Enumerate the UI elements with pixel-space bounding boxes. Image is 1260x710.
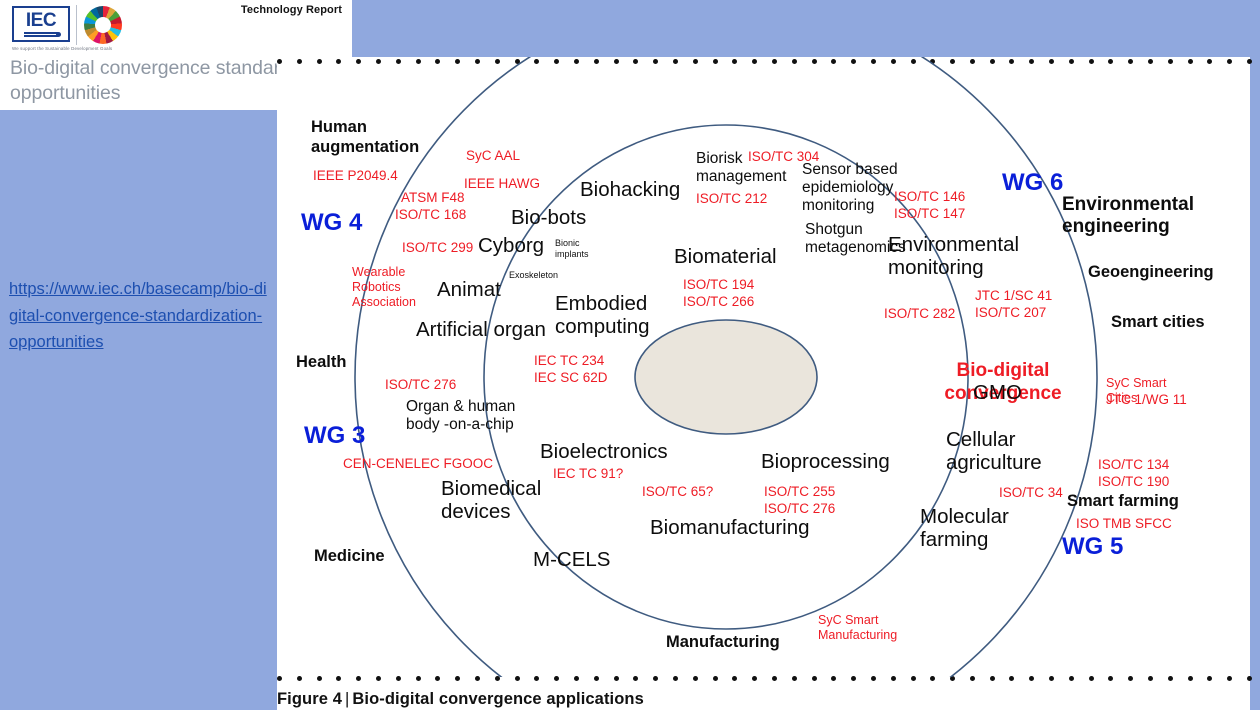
standard-iso-tc-282: ISO/TC 282 [884,306,955,323]
standard-iso-tc-266: ISO/TC 266 [683,294,754,311]
standard-iso-tc-194: ISO/TC 194 [683,277,754,294]
logo-divider [76,5,77,45]
working-group-wg-5: WG 5 [1062,534,1123,560]
working-group-wg-4: WG 4 [301,210,362,236]
standard-ieee-hawg: IEEE HAWG [464,176,540,193]
standard-iso-tc-34: ISO/TC 34 [999,485,1063,502]
application-bioelectronics: Bioelectronics [540,440,670,463]
domain-label-medicine: Medicine [314,546,385,566]
standard-syc-aal: SyC AAL [466,148,520,165]
sub-application-shotgun-metagenomics: Shotgun metagenomics [805,221,925,257]
application-bio-bots: Bio-bots [511,206,586,229]
iec-logo-dot-icon [56,32,61,37]
standard-iso-tc-168: ISO/TC 168 [395,207,466,224]
standard-iso-tc-147: ISO/TC 147 [894,206,965,223]
sdg-wheel-hole [95,17,111,33]
figure-number: Figure 4 [277,690,342,708]
standard-iso-tc-276: ISO/TC 276 [764,501,835,518]
document-url-link[interactable]: https://www.iec.ch/basecamp/bio-digital-… [9,276,271,356]
domain-label-health: Health [296,352,346,372]
application-bioprocessing: Bioprocessing [761,450,891,473]
figure-caption-text: Bio-digital convergence applications [352,690,644,708]
sub-application-organ-human-body-on-a-chip: Organ & human body -on-a-chip [406,398,526,434]
application-biomanufacturing: Biomanufacturing [650,516,780,539]
standard-atsm-f48: ATSM F48 [401,190,465,207]
application-molecular-farming: Molecular farming [920,505,1050,551]
standard-iso-tc-212: ISO/TC 212 [696,191,767,208]
domain-label-geoengineering: Geoengineering [1088,262,1214,282]
figure-panel: Bio-digital convergence Human augmentati… [277,57,1250,710]
application-biomaterial: Biomaterial [674,245,777,268]
domain-label-human-augmentation: Human augmentation [311,117,461,157]
standard-iso-tc-276: ISO/TC 276 [385,377,456,394]
micro-label-exoskeleton: Exoskeleton [509,270,557,281]
domain-label-environmental-engineering: Environmental engineering [1062,194,1212,238]
iec-logo-text: IEC [26,10,56,31]
application-cyborg: Cyborg [478,234,544,257]
standard-iso-tc-190: ISO/TC 190 [1098,474,1169,491]
standard-iec-tc-234: IEC TC 234 [534,353,604,370]
standard-iso-tc-304: ISO/TC 304 [748,149,819,166]
figure-caption-separator: | [342,690,352,708]
standard-syc-smart-manufacturing: SyC Smart Manufacturing [818,613,910,643]
working-group-wg-6: WG 6 [1002,170,1063,196]
standard-jtc-1-wg-11: JTC 1/WG 11 [1106,392,1187,409]
standard-iso-tmb-sfcc: ISO TMB SFCC [1076,516,1172,533]
standard-iec-tc-91: IEC TC 91? [553,466,623,483]
iec-logo-icon: IEC [12,6,70,42]
standard-iso-tc-299: ISO/TC 299 [402,240,473,257]
domain-label-manufacturing: Manufacturing [666,632,780,652]
logo-block: IEC We support the Sustainable Developme… [12,4,130,52]
standard-iso-tc-207: ISO/TC 207 [975,305,1046,322]
sdg-caption: We support the Sustainable Development G… [12,46,152,51]
application-biohacking: Biohacking [580,178,680,201]
application-artificial-organ: Artificial organ [416,318,546,341]
standard-iso-tc-146: ISO/TC 146 [894,189,965,206]
micro-label-bionic-implants: Bionic implants [555,238,603,260]
standard-cen-cenelec-fgooc: CEN-CENELEC FGOOC [343,456,493,473]
standard-wearable-robotics-association: Wearable Robotics Association [352,265,444,310]
application-m-cels: M-CELS [533,548,610,571]
standard-iec-sc-62d: IEC SC 62D [534,370,608,387]
figure-caption: Figure 4|Bio-digital convergence applica… [277,690,644,709]
standard-iso-tc-255: ISO/TC 255 [764,484,835,501]
standard-jtc-1-sc-41: JTC 1/SC 41 [975,288,1052,305]
application-cellular-agriculture: Cellular agriculture [946,428,1076,474]
standard-ieee-p2049-4: IEEE P2049.4 [313,168,398,185]
application-animat: Animat [437,278,501,301]
domain-label-smart-cities: Smart cities [1111,312,1205,332]
domain-label-smart-farming: Smart farming [1067,491,1179,511]
application-embodied-computing: Embodied computing [555,292,685,338]
standard-iso-tc-65: ISO/TC 65? [642,484,713,501]
working-group-wg-3: WG 3 [304,423,365,449]
bio-digital-convergence-diagram: Bio-digital convergence Human augmentati… [277,57,1250,677]
technology-report-label: Technology Report [241,4,342,16]
application-gmo: GMO [973,381,1022,404]
standard-iso-tc-134: ISO/TC 134 [1098,457,1169,474]
application-biomedical-devices: Biomedical devices [441,477,571,523]
